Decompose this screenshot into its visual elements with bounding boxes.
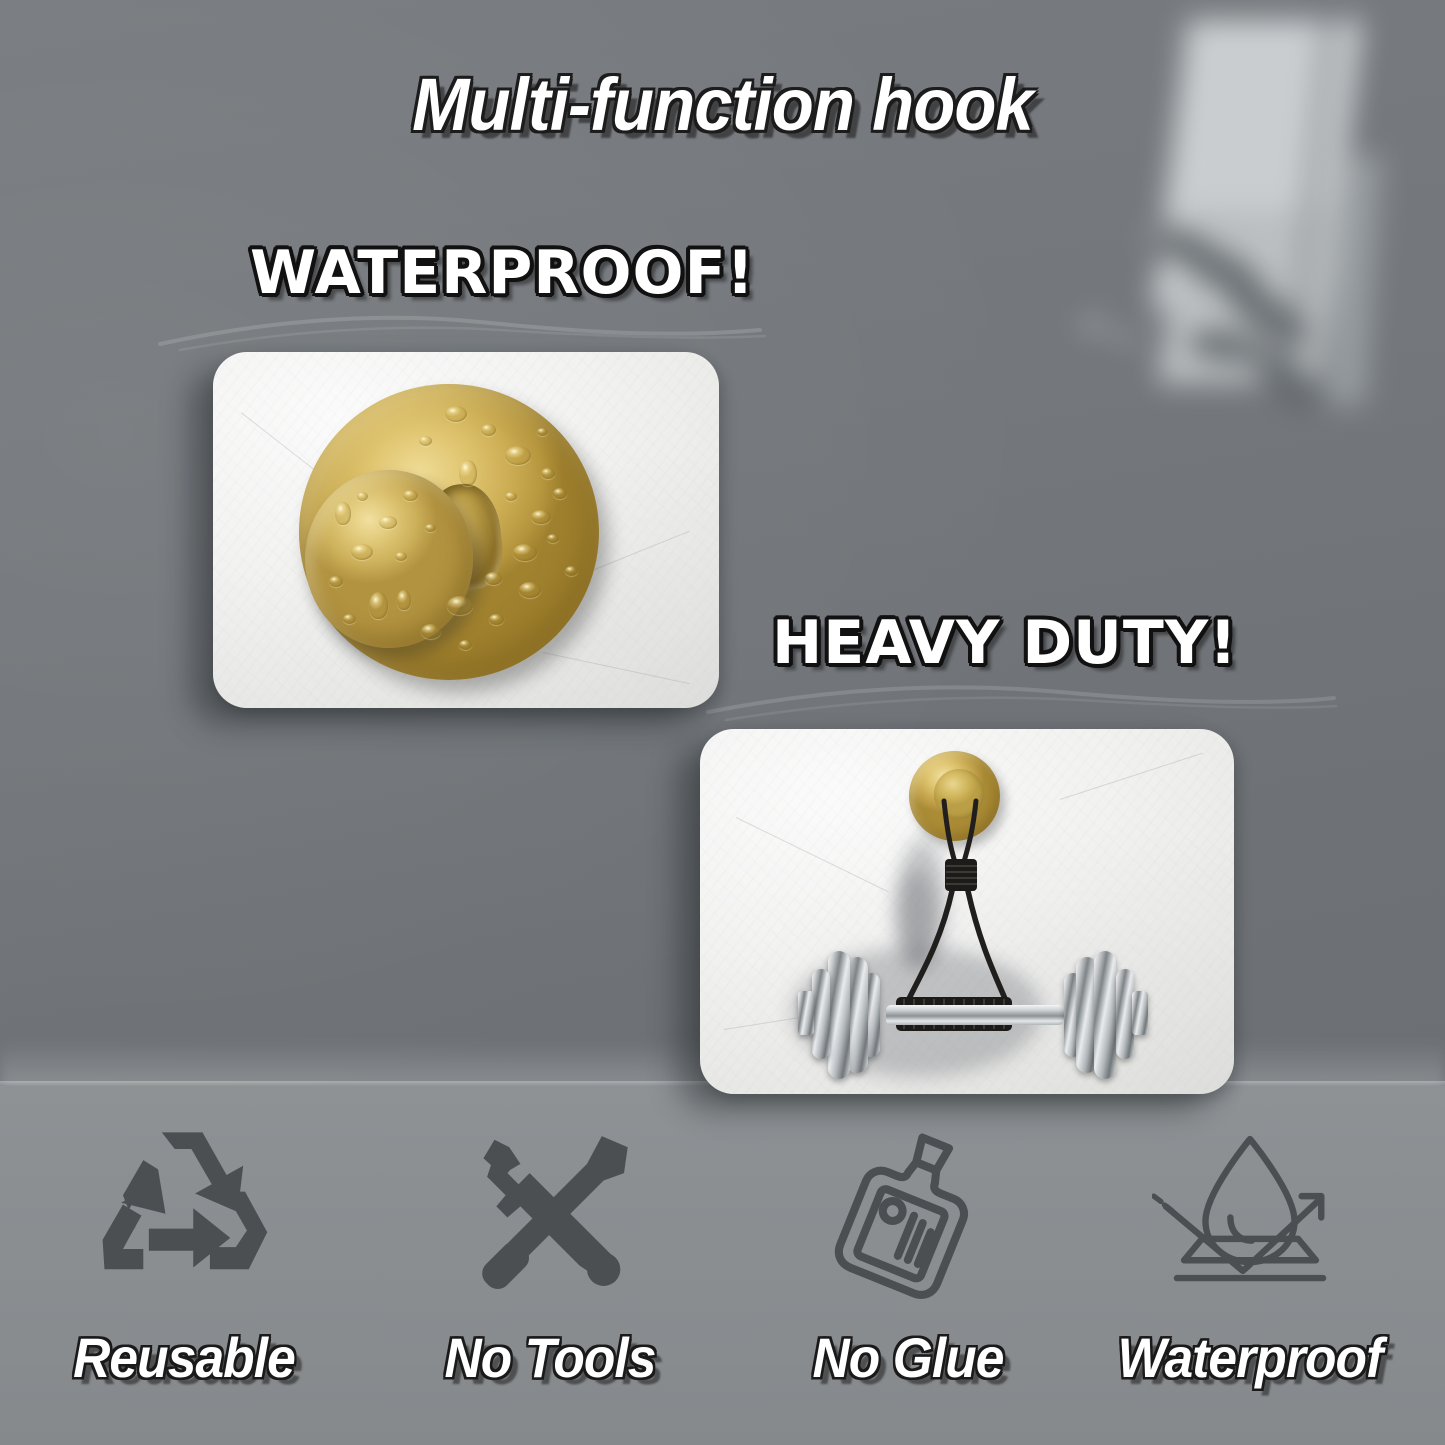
water-droplet bbox=[397, 590, 411, 610]
feature-reusable: Reusable bbox=[34, 1120, 334, 1390]
water-droplet bbox=[419, 436, 432, 446]
leaf-shadow bbox=[1138, 215, 1208, 271]
water-droplet bbox=[541, 468, 555, 479]
highlight-dot bbox=[1140, 230, 1166, 244]
window-side-pane bbox=[1326, 155, 1381, 405]
feature-no-tools: No Tools bbox=[400, 1120, 700, 1390]
water-droplet bbox=[425, 524, 436, 532]
wave-streak-top bbox=[150, 300, 770, 360]
water-droplet bbox=[481, 424, 496, 436]
highlight-dot bbox=[1080, 318, 1108, 333]
water-droplet bbox=[379, 516, 397, 529]
leaf-shadow bbox=[1247, 336, 1323, 410]
feature-waterproof: Waterproof bbox=[1100, 1120, 1400, 1390]
water-droplet bbox=[369, 592, 388, 619]
gold-hook-wet bbox=[299, 384, 599, 680]
feature-label: Reusable bbox=[46, 1325, 322, 1390]
recycle-icon-glyph bbox=[89, 1125, 279, 1310]
water-droplet bbox=[519, 582, 541, 598]
window-pane-lower bbox=[1157, 208, 1348, 383]
recycle-icon bbox=[34, 1120, 334, 1315]
feature-label: No Glue bbox=[770, 1325, 1046, 1390]
feature-label: Waterproof bbox=[1112, 1325, 1388, 1390]
water-droplet bbox=[351, 544, 373, 560]
water-droplet bbox=[547, 534, 559, 543]
water-droplet bbox=[421, 624, 441, 639]
waterproof-icon-glyph bbox=[1152, 1130, 1348, 1305]
dumbbell-plate bbox=[1094, 951, 1116, 1079]
dumbbell bbox=[812, 927, 1132, 1077]
leaf-shadow bbox=[1226, 273, 1312, 360]
water-droplet bbox=[329, 576, 343, 587]
water-droplet bbox=[357, 492, 368, 501]
product-infographic: Multi-function hook WATERPROOF! HEAVY DU… bbox=[0, 0, 1445, 1445]
tools-icon bbox=[400, 1120, 700, 1315]
water-droplet bbox=[553, 488, 567, 499]
highlight-dot bbox=[1116, 332, 1136, 344]
water-droplet bbox=[537, 428, 548, 436]
callout-heavy-duty: HEAVY DUTY! bbox=[772, 608, 1238, 678]
highlight-dot bbox=[1166, 298, 1188, 311]
water-droplet bbox=[395, 552, 407, 561]
dumbbell-plate bbox=[812, 969, 830, 1059]
water-droplet bbox=[489, 614, 504, 625]
water-droplet bbox=[505, 446, 531, 465]
glue-bottle-icon bbox=[758, 1120, 1058, 1315]
water-droplet bbox=[459, 640, 472, 650]
callout-waterproof: WATERPROOF! bbox=[250, 238, 755, 308]
leaf-shadow bbox=[1182, 233, 1264, 309]
strap-clip-upper bbox=[945, 859, 977, 891]
water-droplet bbox=[445, 406, 467, 422]
tools-icon-glyph bbox=[455, 1125, 645, 1310]
hook-knob bbox=[305, 470, 473, 648]
wave-streak-mid bbox=[700, 672, 1340, 732]
dumbbell-plate bbox=[828, 951, 850, 1079]
water-droplet bbox=[403, 490, 418, 501]
product-photo-heavy-duty bbox=[700, 729, 1234, 1094]
product-photo-waterproof bbox=[213, 352, 719, 708]
feature-no-glue: No Glue bbox=[758, 1120, 1058, 1390]
waterproof-icon bbox=[1100, 1120, 1400, 1315]
dumbbell-collar bbox=[798, 991, 814, 1035]
leaf-shadow bbox=[1187, 321, 1260, 372]
dumbbell-collar bbox=[1132, 991, 1148, 1035]
page-title: Multi-function hook bbox=[51, 62, 1395, 147]
water-droplet bbox=[459, 460, 477, 486]
water-droplet bbox=[485, 572, 502, 585]
dumbbell-bar bbox=[886, 1005, 1064, 1025]
feature-label: No Tools bbox=[412, 1325, 688, 1390]
water-droplet bbox=[343, 614, 356, 624]
water-droplet bbox=[565, 566, 578, 576]
water-droplet bbox=[447, 596, 473, 615]
glue-bottle-icon-glyph bbox=[818, 1125, 998, 1310]
water-droplet bbox=[513, 544, 537, 561]
water-droplet bbox=[531, 510, 551, 524]
water-droplet bbox=[505, 492, 517, 501]
water-droplet bbox=[335, 502, 351, 525]
